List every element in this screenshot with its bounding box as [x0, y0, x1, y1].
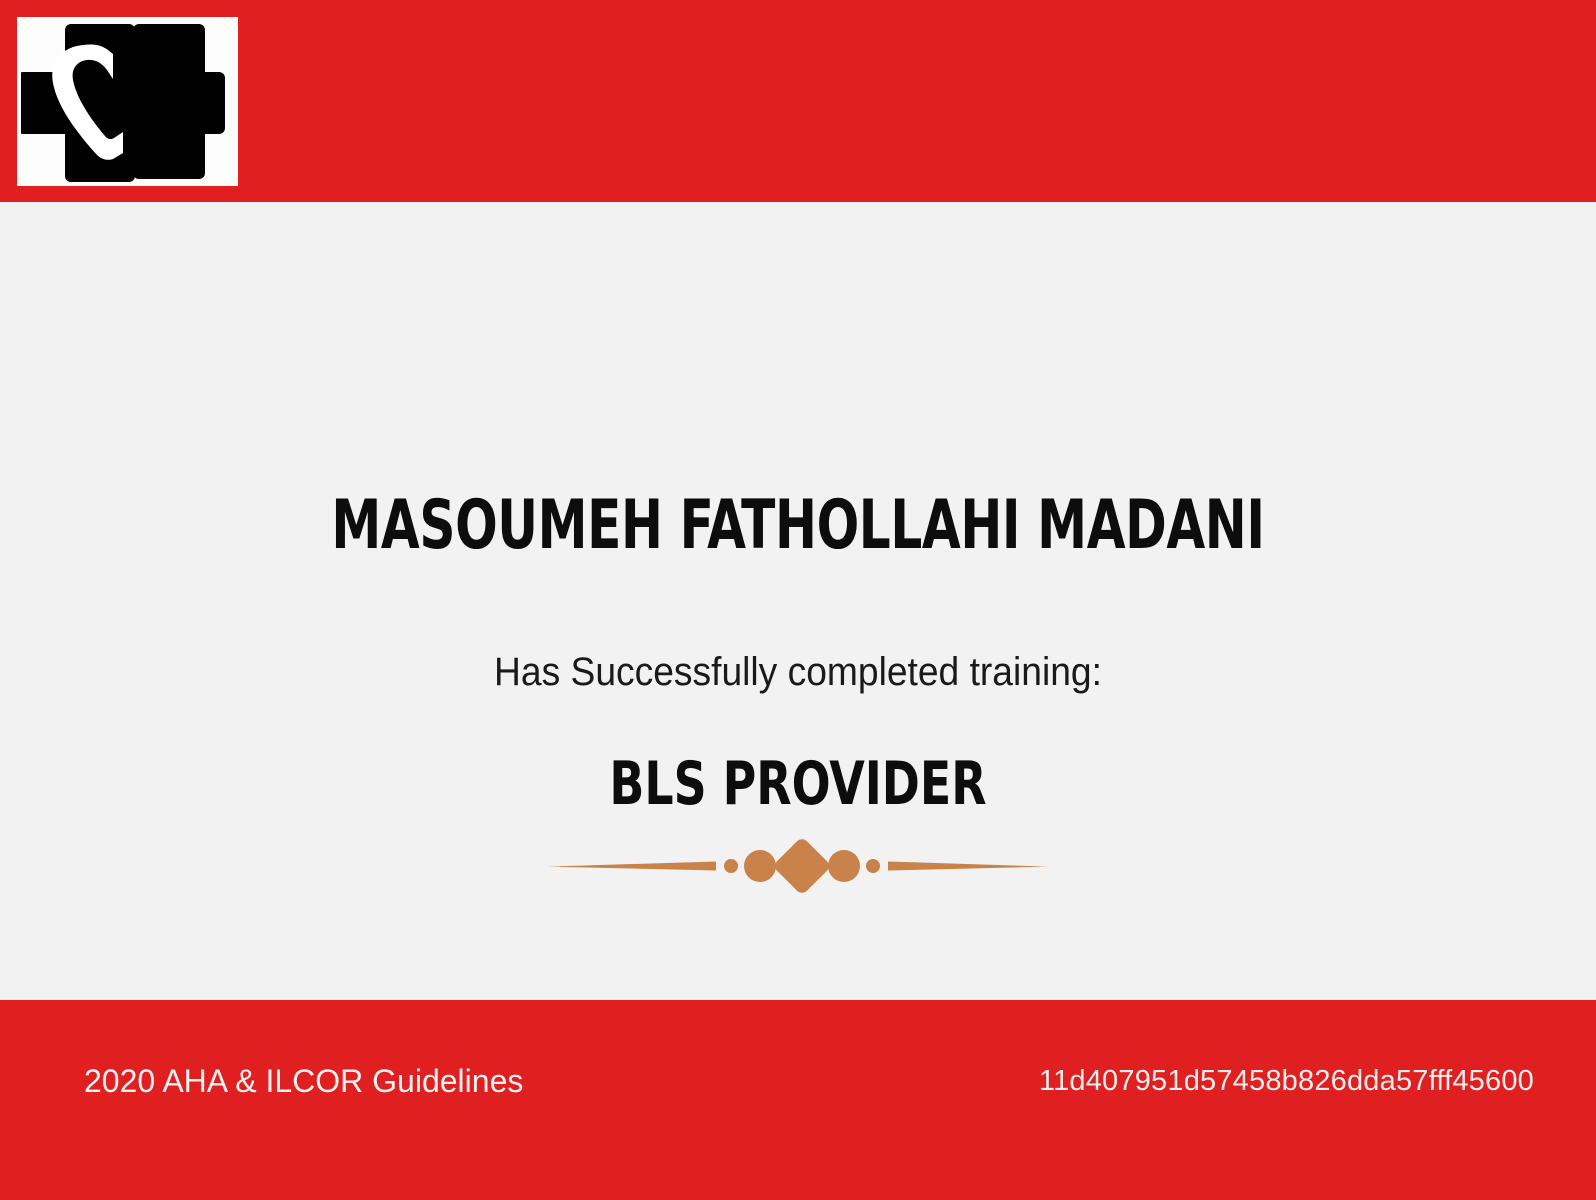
diamond-dots-divider-icon — [548, 839, 1048, 893]
certificate-id: 11d407951d57458b826dda57fff45600 — [1039, 1064, 1534, 1099]
medical-cross-heart-icon — [21, 20, 235, 183]
recipient-name: MASOUMEH FATHOLLAHI MADANI — [144, 492, 1453, 560]
certificate: MASOUMEH FATHOLLAHI MADANI Has Successfu… — [0, 0, 1596, 1200]
header-band — [0, 0, 1596, 202]
guidelines-text: 2020 AHA & ILCOR Guidelines — [84, 1062, 523, 1100]
certificate-body: MASOUMEH FATHOLLAHI MADANI Has Successfu… — [0, 202, 1596, 1000]
footer-band: 2020 AHA & ILCOR Guidelines 11d407951d57… — [0, 1000, 1596, 1200]
course-title: BLS PROVIDER — [120, 754, 1477, 814]
completion-statement: Has Successfully completed training: — [56, 652, 1540, 692]
logo-plate — [17, 17, 238, 186]
